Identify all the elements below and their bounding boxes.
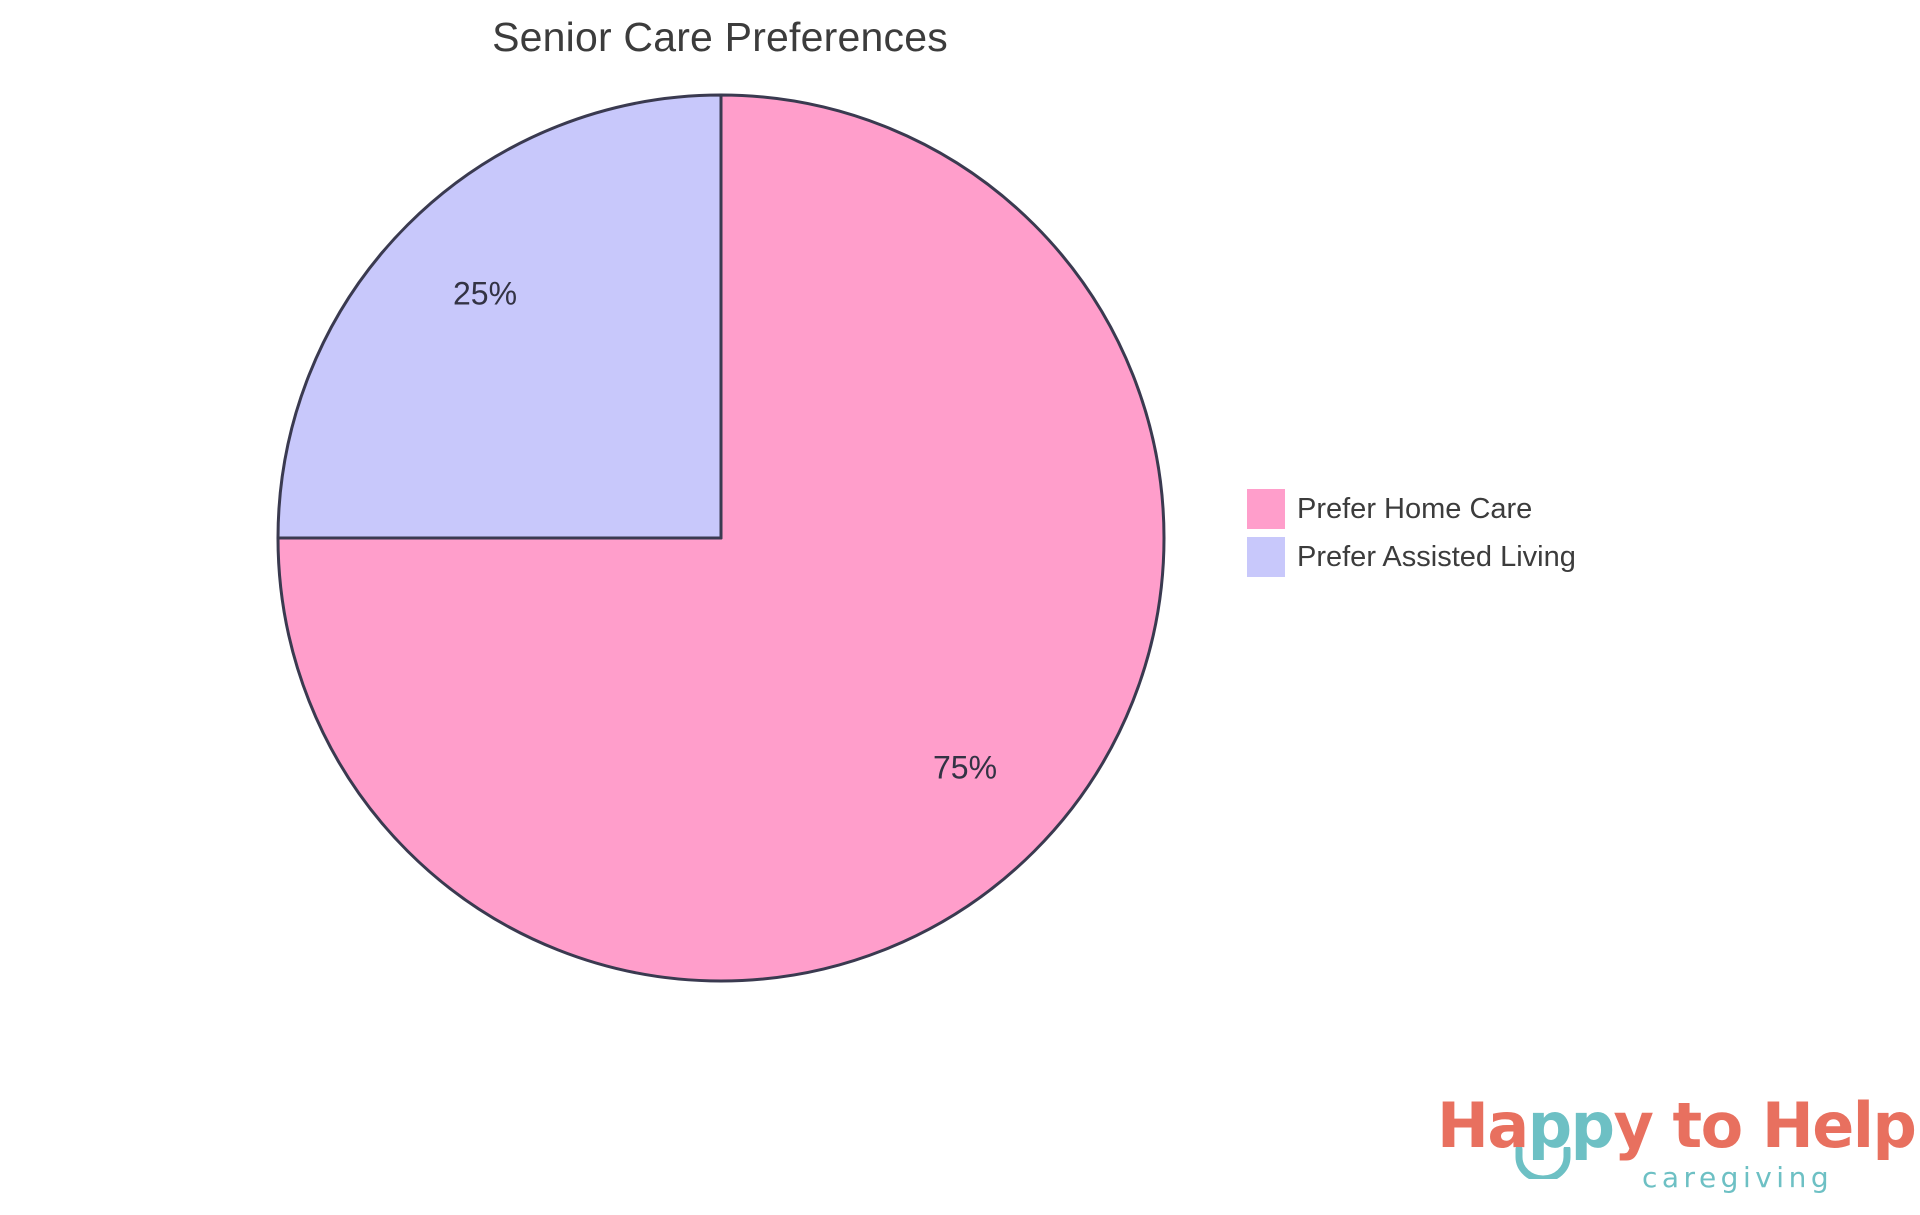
logo-word-help: Help [1762, 1089, 1916, 1162]
logo-word-to: to [1652, 1089, 1761, 1162]
pie-slice-label-prefer-home-care: 75% [933, 749, 997, 785]
legend-label-prefer-assisted-living: Prefer Assisted Living [1297, 543, 1576, 572]
pie-chart: 25% 75% [0, 0, 1440, 1030]
logo-wordmark: Happy to Help [1437, 1095, 1915, 1157]
pie-slice-label-prefer-assisted-living: 25% [453, 275, 517, 311]
legend-swatch-icon-prefer-assisted-living [1247, 537, 1285, 577]
legend-item-prefer-assisted-living[interactable]: Prefer Assisted Living [1247, 533, 1576, 581]
pie-chart-svg: 25% 75% [0, 0, 1440, 1030]
smile-arc-icon [1515, 1147, 1571, 1179]
legend-swatch-icon-prefer-home-care [1247, 489, 1285, 529]
logo-letter-y: y [1614, 1089, 1653, 1162]
chart-legend: Prefer Home Care Prefer Assisted Living [1247, 485, 1576, 581]
legend-item-prefer-home-care[interactable]: Prefer Home Care [1247, 485, 1576, 533]
brand-logo: Happy to Help caregiving [1437, 1095, 1897, 1203]
logo-letter-h: H [1437, 1089, 1487, 1162]
logo-tagline: caregiving [1642, 1161, 1833, 1194]
legend-label-prefer-home-care: Prefer Home Care [1297, 495, 1532, 524]
pie-slice-prefer-assisted-living[interactable] [278, 95, 721, 538]
